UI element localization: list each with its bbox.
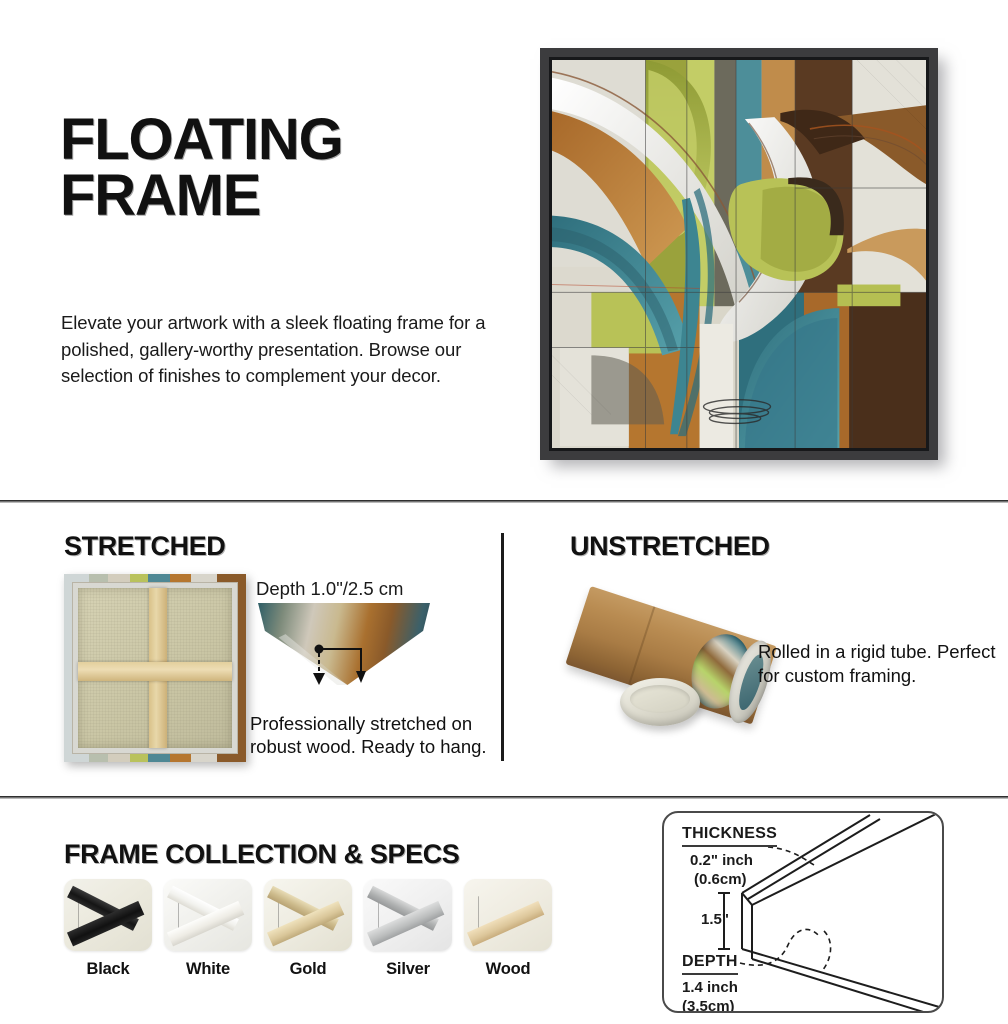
thickness-label: THICKNESS [682,825,777,847]
canvas-reverse-face [78,588,232,748]
frame-corner-thumbnail [164,879,252,951]
frame-swatch-silver[interactable]: Silver [364,879,452,979]
stretcher-bar-horizontal [78,662,232,681]
tube-seam [628,606,655,685]
abstract-painting-graphic [552,60,926,448]
frame-collection-section: FRAME COLLECTION & SPECS Black White [0,799,1008,1024]
frame-corner-thumbnail [64,879,152,951]
frame-corner-thumbnail [464,879,552,951]
frame-corner-thumbnail [264,879,352,951]
frame-swatch-label: Gold [264,960,352,979]
frame-swatch-label: Black [64,960,152,979]
hero-section: FLOATING FRAME Elevate your artwork with… [0,0,1008,502]
hero-description: Elevate your artwork with a sleek floati… [61,310,531,390]
depth-measure-arrows [258,603,430,685]
frame-swatch-label: Silver [364,960,452,979]
stretched-canvas-back-photo [64,574,246,762]
stretched-description: Professionally stretched on robust wood.… [250,712,502,759]
depth-value-inch: 1.4 inch [682,979,738,996]
infographic-page: FLOATING FRAME Elevate your artwork with… [0,0,1008,1024]
depth-label-title: DEPTH [682,953,738,975]
frame-swatch-black[interactable]: Black [64,879,152,979]
depth-diagram [258,603,430,685]
tube-end-cap [620,678,700,726]
unstretched-description: Rolled in a rigid tube. Perfect for cust… [758,640,1008,688]
shipping-column-divider [501,533,504,761]
depth-label: Depth 1.0"/2.5 cm [256,578,403,600]
framed-artwork [540,48,938,460]
frame-inner-lip [549,57,929,451]
frame-swatch-gold[interactable]: Gold [264,879,352,979]
frame-swatch-wood[interactable]: Wood [464,879,552,979]
frame-spec-diagram: THICKNESS 0.2" inch (0.6cm) 1.5" DEPTH 1… [662,811,944,1013]
depth-value-cm: (3.5cm) [682,998,735,1013]
frame-collection-heading: FRAME COLLECTION & SPECS [64,839,459,870]
thickness-value-cm: (0.6cm) [694,871,747,888]
frame-swatch-label: Wood [464,960,552,979]
frame-corner-thumbnail [364,879,452,951]
page-title: FLOATING FRAME [60,112,343,225]
frame-swatch-row: Black White Gold [64,879,552,979]
stretched-heading: STRETCHED [64,531,225,562]
frame-swatch-label: White [164,960,252,979]
unstretched-heading: UNSTRETCHED [570,531,770,562]
height-value: 1.5" [701,911,729,928]
thickness-value-inch: 0.2" inch [690,852,753,869]
frame-swatch-white[interactable]: White [164,879,252,979]
stretcher-frame [72,582,238,754]
artwork-canvas [552,60,926,448]
